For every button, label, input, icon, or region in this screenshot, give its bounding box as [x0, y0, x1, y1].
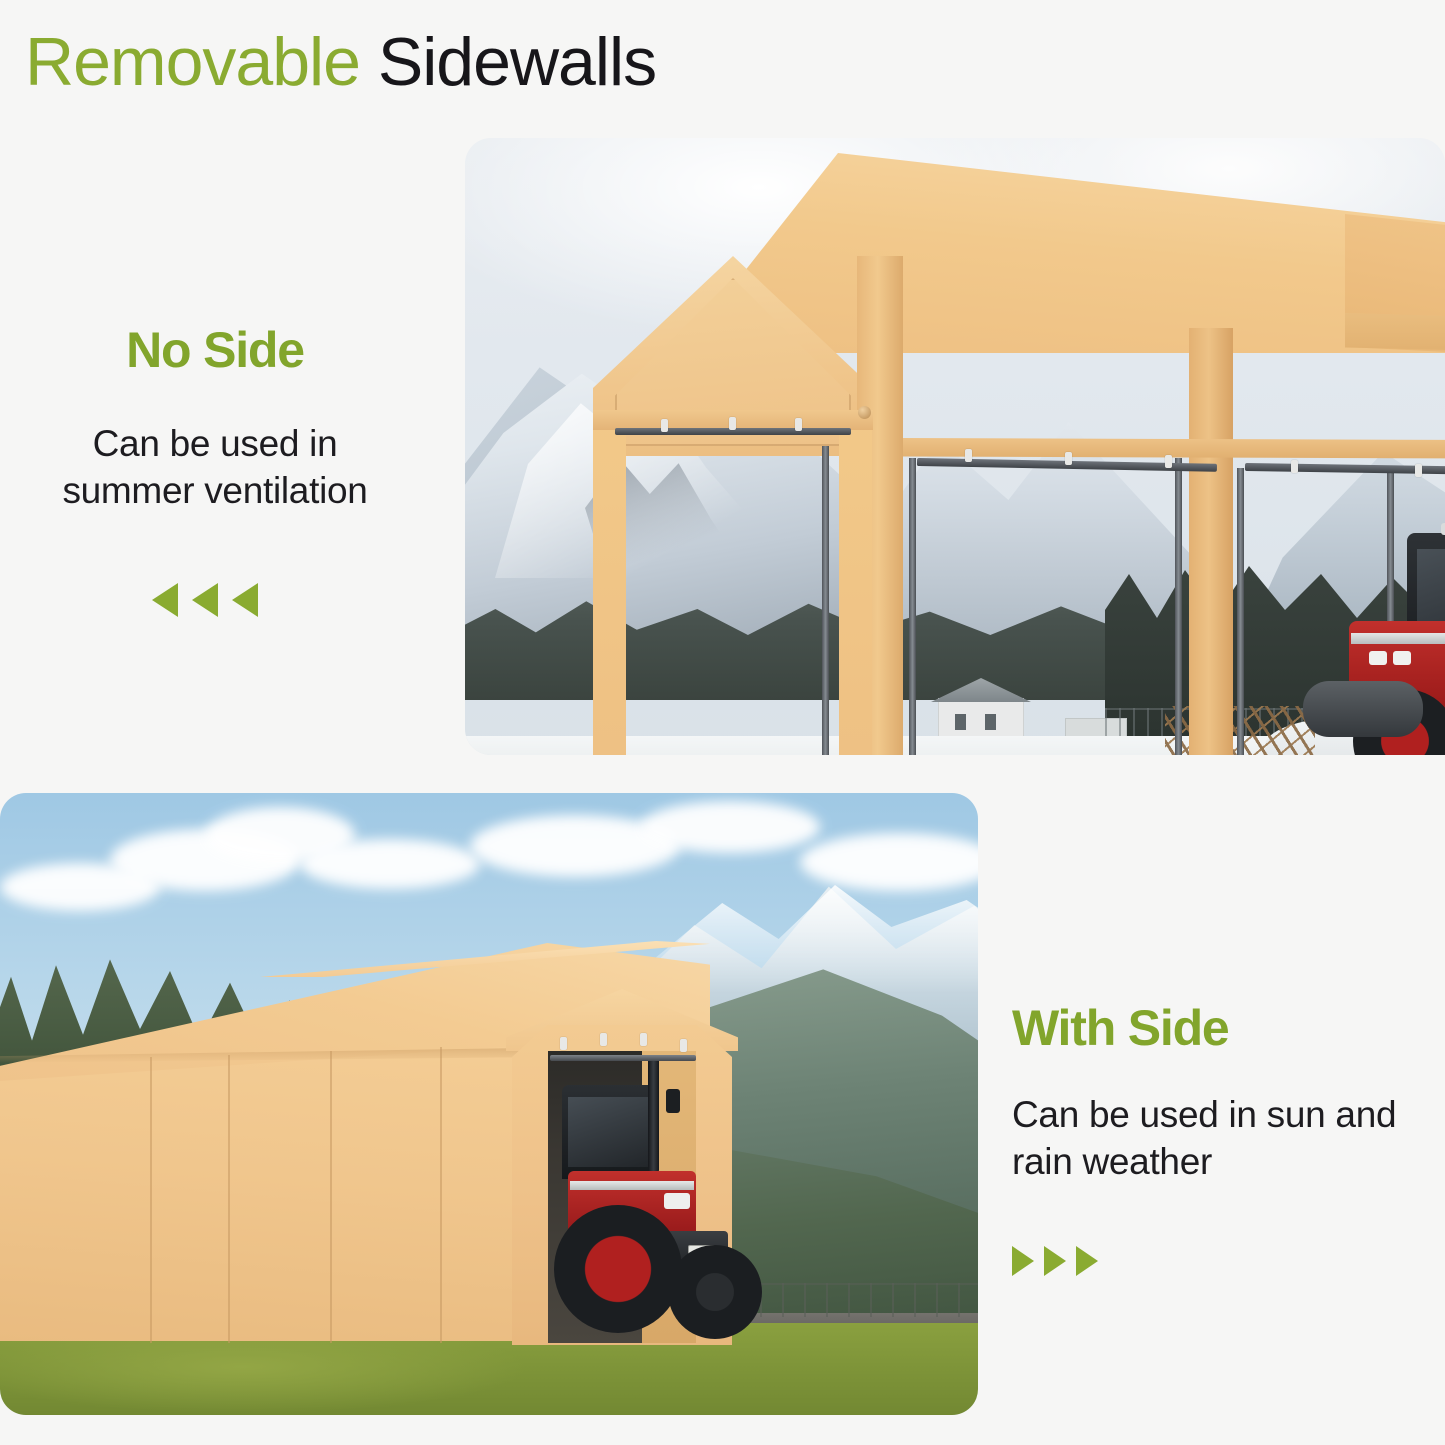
- sidewall-seam: [440, 1047, 442, 1343]
- tractor-fuel-tank: [1303, 681, 1423, 737]
- panel-with-side-heading: With Side: [1012, 1003, 1442, 1053]
- sidewall-clip: [1165, 455, 1172, 468]
- doorway-rail: [550, 1055, 696, 1061]
- arrow-group-left: [0, 583, 430, 617]
- cloud: [640, 801, 820, 853]
- sidewall-clip: [795, 418, 802, 431]
- tractor-roof-light: [1441, 523, 1445, 535]
- canopy-front-leg-left: [593, 410, 626, 755]
- triangle-left-icon: [232, 583, 258, 617]
- red-tractor: [548, 1093, 758, 1345]
- infographic-canvas: Removable Sidewalls: [0, 0, 1445, 1445]
- triangle-right-icon: [1044, 1246, 1066, 1276]
- rail-end-knob: [858, 406, 871, 419]
- arrow-group-right: [1012, 1246, 1442, 1276]
- sidewall-clip: [661, 419, 668, 432]
- panel-with-side-body: Can be used in sun and rain weather: [1012, 1091, 1442, 1186]
- sidewall-clip: [1291, 460, 1298, 473]
- sidewall-panel-long: [0, 1041, 590, 1341]
- triangle-left-icon: [152, 583, 178, 617]
- page-title-black: Sidewalls: [360, 24, 656, 100]
- open-bay-middle: [903, 458, 1189, 755]
- sidewall-clip: [680, 1039, 687, 1052]
- sidewall-clip: [560, 1037, 567, 1050]
- support-pole: [1237, 468, 1244, 755]
- page-title-green: Removable: [25, 24, 360, 100]
- sidewall-seam: [150, 1057, 152, 1343]
- tractor-grille-stripe: [570, 1181, 694, 1190]
- photo-carport-with-sidewalls: [0, 793, 978, 1415]
- sidewall-clip: [965, 449, 972, 462]
- sidewall-clip: [640, 1033, 647, 1046]
- tractor-cab-glass: [568, 1097, 652, 1167]
- tractor-headlight: [1393, 651, 1411, 665]
- panel-no-side: No Side Can be used in summer ventilatio…: [0, 325, 430, 617]
- sidewall-clip: [600, 1033, 607, 1046]
- sidewall-seam: [228, 1055, 230, 1343]
- tractor-rear-wheel: [554, 1205, 682, 1333]
- scene-open-carport: [465, 138, 1445, 755]
- open-bay-left: [626, 436, 839, 755]
- canopy-front-leg-right: [839, 410, 872, 755]
- cloud: [300, 839, 480, 889]
- triangle-right-icon: [1012, 1246, 1034, 1276]
- sidewall-clip: [1065, 452, 1072, 465]
- tractor-mirror: [666, 1089, 680, 1113]
- tractor-exhaust-stack: [648, 1055, 659, 1173]
- tractor-headlight: [664, 1193, 690, 1209]
- canopy-back-post: [1189, 328, 1233, 755]
- triangle-left-icon: [192, 583, 218, 617]
- support-pole: [822, 446, 829, 755]
- panel-with-side: With Side Can be used in sun and rain we…: [1012, 1003, 1442, 1276]
- fence-line: [760, 1283, 978, 1317]
- sidewall-clip: [729, 417, 736, 430]
- support-pole: [1175, 458, 1182, 755]
- cloud: [0, 863, 160, 911]
- tractor-front-wheel: [668, 1245, 762, 1339]
- canopy-header-beam-side: [903, 438, 1445, 460]
- tractor-headlight: [1369, 651, 1387, 665]
- red-tractor: [1345, 533, 1445, 755]
- scene-enclosed-carport: [0, 793, 978, 1415]
- page-title: Removable Sidewalls: [25, 28, 656, 96]
- sidewall-clip: [1415, 464, 1422, 477]
- tractor-grille-stripe: [1351, 633, 1445, 644]
- sidewall-seam: [330, 1051, 332, 1343]
- panel-no-side-body: Can be used in summer ventilation: [0, 420, 430, 515]
- photo-carport-without-sidewalls: [465, 138, 1445, 755]
- panel-no-side-heading: No Side: [0, 325, 430, 375]
- triangle-right-icon: [1076, 1246, 1098, 1276]
- support-pole: [909, 458, 916, 755]
